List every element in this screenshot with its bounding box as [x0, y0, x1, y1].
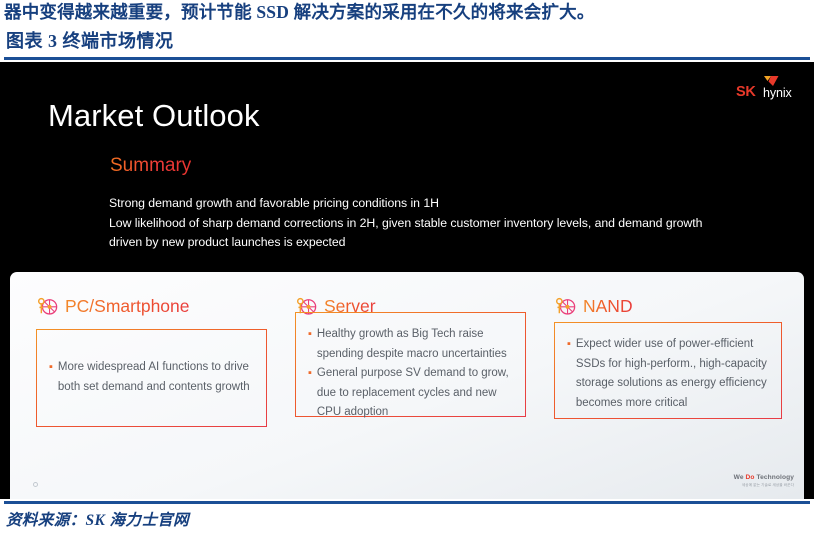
- bullet-item: ▪ More widespread AI functions to drive …: [49, 358, 253, 397]
- tagline-korean: 세상에 없는 기술로 세상을 바꾼다: [734, 483, 794, 487]
- sk-hynix-logo: SK hynix: [736, 75, 798, 103]
- column-card-server: ▪ Healthy growth as Big Tech raise spend…: [295, 312, 526, 417]
- segmented-circle-icon: [36, 295, 58, 317]
- column-header-pc-smartphone: PC/Smartphone: [36, 295, 190, 317]
- report-lead-text: 器中变得越来越重要，预计节能 SSD 解决方案的采用在不久的将来会扩大。: [4, 0, 810, 24]
- column-card-pc-smartphone: ▪ More widespread AI functions to drive …: [36, 329, 267, 427]
- bullet-text: Healthy growth as Big Tech raise spendin…: [317, 325, 512, 364]
- bullet-item: ▪ Healthy growth as Big Tech raise spend…: [308, 325, 512, 364]
- tagline-pre: We: [734, 474, 746, 481]
- source-note: 资料来源：SK 海力士官网: [6, 508, 189, 530]
- column-header-nand: NAND: [554, 295, 633, 317]
- tagline-post: Technology: [755, 474, 794, 481]
- bullet-marker: ▪: [308, 364, 312, 423]
- bullet-marker: ▪: [308, 325, 312, 364]
- summary-body: Strong demand growth and favorable prici…: [109, 194, 749, 253]
- bullet-marker: ▪: [49, 358, 53, 397]
- panel-corner-dot: [33, 482, 38, 487]
- logo-brand-text: SK: [736, 85, 756, 99]
- bullet-item: ▪ Expect wider use of power-efficient SS…: [567, 335, 768, 413]
- logo-product-text: hynix: [763, 87, 792, 100]
- bullet-item: ▪ General purpose SV demand to grow, due…: [308, 364, 512, 423]
- summary-line: Strong demand growth and favorable prici…: [109, 194, 749, 214]
- market-outlook-panel: PC/Smartphone ▪ More widespread AI funct…: [10, 272, 804, 499]
- tagline-accent: Do: [746, 474, 755, 481]
- column-title: NAND: [583, 296, 633, 317]
- header-divider: [4, 57, 810, 60]
- bullet-marker: ▪: [567, 335, 571, 413]
- bullet-text: General purpose SV demand to grow, due t…: [317, 364, 512, 423]
- bullet-text: More widespread AI functions to drive bo…: [58, 358, 253, 397]
- segmented-circle-icon: [554, 295, 576, 317]
- column-title: PC/Smartphone: [65, 296, 190, 317]
- slide-canvas: Market Outlook SK hynix Summary Strong d…: [0, 62, 814, 499]
- slide-title: Market Outlook: [48, 98, 260, 134]
- column-card-nand: ▪ Expect wider use of power-efficient SS…: [554, 322, 782, 419]
- summary-line: Low likelihood of sharp demand correctio…: [109, 214, 749, 234]
- footer-divider: [4, 501, 810, 504]
- tagline: We Do Technology: [734, 474, 794, 482]
- slide-footer: We Do Technology 세상에 없는 기술로 세상을 바꾼다: [734, 474, 794, 487]
- summary-heading: Summary: [110, 155, 191, 177]
- bullet-text: Expect wider use of power-efficient SSDs…: [576, 335, 768, 413]
- summary-line: driven by new product launches is expect…: [109, 233, 749, 253]
- figure-title: 图表 3 终端市场情况: [6, 29, 174, 53]
